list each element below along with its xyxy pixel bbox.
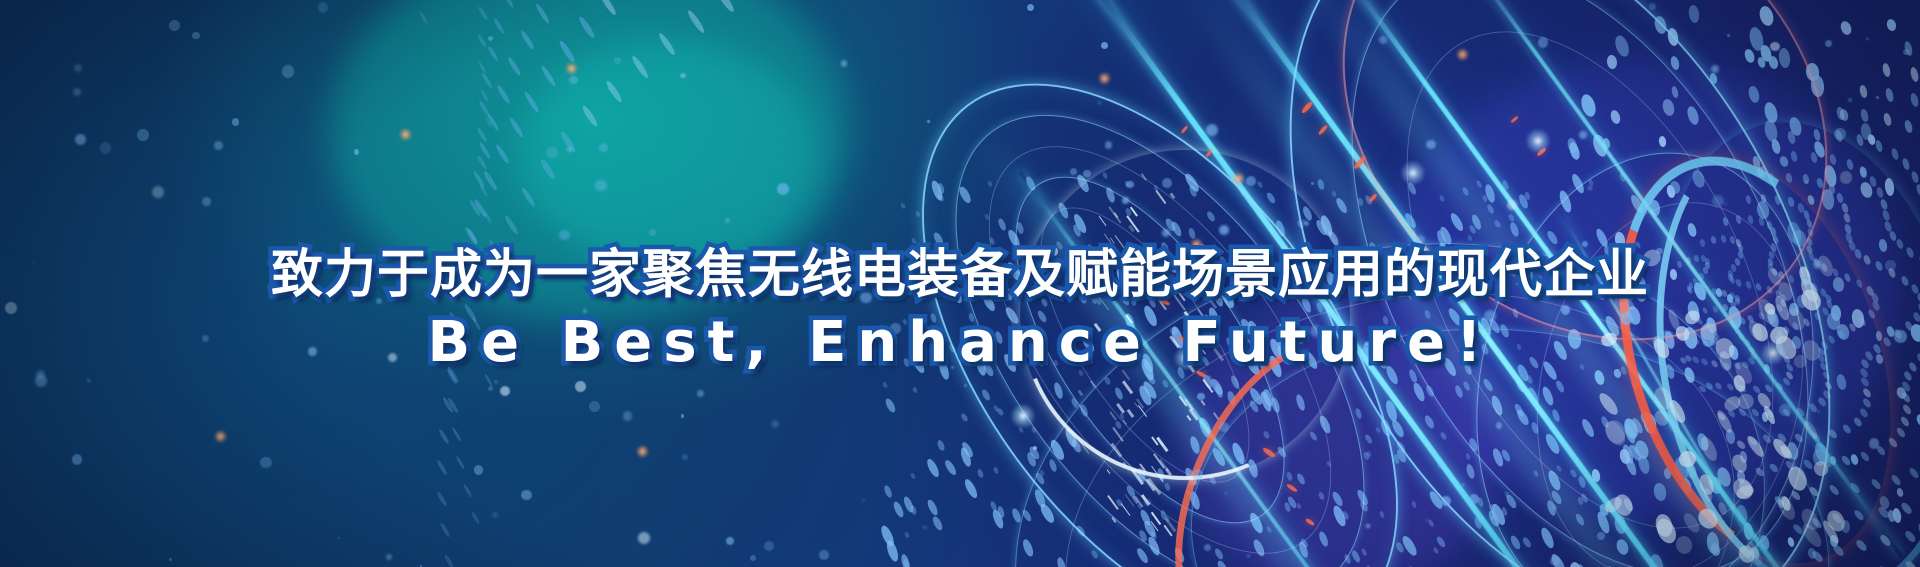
matrix-dash <box>1667 27 1680 46</box>
matrix-dash <box>1197 416 1214 440</box>
matrix-dash <box>1618 448 1631 465</box>
matrix-dash <box>1183 172 1202 194</box>
ring-tick <box>1164 517 1175 531</box>
bokeh-dot <box>1507 200 1517 210</box>
matrix-dash <box>1124 180 1130 187</box>
matrix-dash <box>1104 186 1116 204</box>
matrix-dash <box>1807 547 1817 560</box>
bokeh-dot <box>1304 221 1309 226</box>
matrix-dash <box>1246 458 1259 478</box>
matrix-dash <box>1661 98 1676 117</box>
ring-tick <box>1136 398 1144 408</box>
matrix-dash <box>1064 426 1080 448</box>
matrix-dash <box>1423 414 1436 429</box>
matrix-dash <box>1838 19 1852 36</box>
matrix-dash <box>1861 397 1872 409</box>
matrix-dash <box>1915 183 1920 196</box>
matrix-dash <box>1164 482 1171 491</box>
matrix-dash <box>1135 546 1150 564</box>
bokeh-dot <box>488 36 493 41</box>
matrix-dash <box>1462 380 1471 391</box>
ring-tick <box>1651 385 1674 412</box>
matrix-dash <box>1549 552 1568 567</box>
matrix-dash <box>1669 180 1682 195</box>
matrix-dash <box>1836 192 1844 204</box>
matrix-dash <box>1551 504 1557 511</box>
matrix-dash <box>1742 523 1753 541</box>
matrix-dash <box>1859 122 1872 140</box>
ring-tick <box>1735 391 1756 412</box>
matrix-dash <box>1892 508 1903 524</box>
matrix-dash <box>1669 55 1680 71</box>
matrix-dash <box>1449 212 1466 234</box>
bokeh-dot <box>1469 494 1479 504</box>
bokeh-dot <box>725 218 731 224</box>
ring-tick <box>1163 524 1173 536</box>
matrix-dash <box>1598 503 1609 517</box>
ring-tick <box>1185 399 1194 411</box>
ring-tick <box>1203 379 1214 393</box>
bokeh-dot <box>595 180 606 191</box>
matrix-dash <box>1188 227 1196 239</box>
matrix-dash <box>1910 170 1920 183</box>
matrix-dash <box>1738 383 1747 393</box>
ring-tick <box>1811 458 1831 478</box>
ring-tick <box>1213 412 1219 419</box>
matrix-dash <box>1411 382 1426 403</box>
matrix-dash <box>1141 380 1159 401</box>
matrix-dash <box>1900 415 1911 427</box>
bokeh-dot <box>137 129 149 141</box>
matrix-dash <box>990 508 1005 529</box>
matrix-dash <box>1595 510 1611 535</box>
ring-tick <box>1141 173 1147 181</box>
coral-spark <box>1205 149 1212 157</box>
matrix-dash <box>1270 397 1282 414</box>
matrix-dash <box>1878 494 1891 509</box>
matrix-dash <box>1663 467 1671 479</box>
lens-flare-point <box>636 445 649 458</box>
matrix-dash <box>1577 475 1586 488</box>
matrix-dash <box>1747 25 1765 52</box>
matrix-dash <box>1859 451 1871 463</box>
matrix-dash <box>1018 427 1024 434</box>
ring-tick <box>1653 512 1674 538</box>
matrix-dash <box>1214 383 1224 398</box>
bokeh-dot <box>100 142 111 153</box>
ring-tick <box>1109 207 1122 224</box>
ring-tick <box>1762 405 1777 426</box>
matrix-dash <box>1057 201 1071 220</box>
matrix-dash <box>1870 478 1882 491</box>
matrix-dash <box>959 446 973 468</box>
ring-tick <box>1681 510 1702 534</box>
matrix-dash <box>1735 215 1742 225</box>
matrix-dash <box>1173 546 1186 563</box>
bokeh-dot <box>1225 492 1227 494</box>
matrix-dash <box>1125 484 1137 499</box>
arc-dash <box>559 131 577 154</box>
ring-tick <box>1603 418 1629 447</box>
matrix-dash <box>1823 380 1833 391</box>
matrix-dash <box>1717 412 1727 422</box>
matrix-dash <box>1138 529 1148 542</box>
ring-tick <box>1717 501 1728 516</box>
ring-tick <box>1151 512 1161 525</box>
matrix-dash <box>1757 165 1768 178</box>
matrix-dash <box>1884 87 1894 102</box>
matrix-dash <box>1901 380 1912 392</box>
arc-dash <box>468 199 481 216</box>
matrix-dash <box>1619 173 1627 183</box>
matrix-dash <box>1359 500 1369 512</box>
bokeh-dot <box>1712 195 1724 207</box>
matrix-dash <box>1878 534 1892 548</box>
matrix-dash <box>1758 534 1770 550</box>
ring-tick <box>1729 452 1749 475</box>
matrix-dash <box>1821 188 1836 210</box>
matrix-dash <box>1751 384 1760 394</box>
arc-dash <box>482 210 492 223</box>
matrix-dash <box>996 407 1004 416</box>
bokeh-dot <box>771 420 779 428</box>
matrix-dash <box>1188 435 1201 455</box>
matrix-dash <box>1827 428 1838 440</box>
matrix-dash <box>1696 432 1711 453</box>
matrix-dash <box>1149 531 1157 541</box>
matrix-dash <box>1629 193 1646 215</box>
matrix-dash <box>1191 475 1197 482</box>
bokeh-dot <box>638 532 650 544</box>
matrix-dash <box>1315 218 1330 236</box>
matrix-dash <box>1021 508 1033 522</box>
arc-dash <box>464 226 479 246</box>
bokeh-dot <box>75 134 86 145</box>
arc-dash <box>477 34 487 48</box>
matrix-dash <box>1052 381 1064 400</box>
bokeh-dot <box>1817 410 1821 414</box>
matrix-dash <box>1769 462 1780 474</box>
matrix-dash <box>924 457 940 478</box>
matrix-dash <box>1515 408 1531 427</box>
ring-tick <box>1078 438 1090 454</box>
ring-tick <box>1601 418 1629 449</box>
matrix-dash <box>1216 559 1229 567</box>
matrix-dash <box>1327 229 1341 247</box>
matrix-dash <box>902 495 915 513</box>
ring-tick <box>1612 492 1636 519</box>
matrix-dash <box>984 214 990 221</box>
matrix-dash <box>1720 235 1727 244</box>
coral-spark <box>1300 101 1313 115</box>
matrix-dash <box>1252 538 1267 557</box>
arc-dash <box>451 426 462 441</box>
arc-dash <box>520 186 537 208</box>
ring-tick <box>1697 472 1716 496</box>
headline-block: 致力于成为一家聚焦无线电装备及赋能场景应用的现代企业 Be Best, Enha… <box>0 246 1920 376</box>
headline-english: Be Best, Enhance Future! <box>0 310 1920 376</box>
matrix-dash <box>915 210 921 217</box>
matrix-dash <box>1509 534 1522 550</box>
matrix-dash <box>1331 490 1345 507</box>
matrix-dash <box>1258 390 1273 412</box>
matrix-dash <box>1688 4 1701 23</box>
arc-dash <box>462 483 472 497</box>
matrix-dash <box>1859 167 1868 179</box>
matrix-dash <box>1318 415 1333 435</box>
ring-tick <box>1755 390 1773 409</box>
matrix-dash <box>1859 408 1870 420</box>
bokeh-dot <box>1219 225 1229 235</box>
matrix-dash <box>1546 500 1558 518</box>
matrix-dash <box>1875 186 1884 198</box>
matrix-dash <box>902 558 910 567</box>
arc-dash <box>472 198 487 218</box>
matrix-dash <box>1759 44 1773 63</box>
lens-flare-point <box>399 128 412 141</box>
matrix-dash <box>884 397 897 414</box>
matrix-dash <box>1427 519 1435 528</box>
matrix-dash <box>1075 524 1087 538</box>
matrix-dash <box>1706 473 1717 488</box>
matrix-dash <box>1828 184 1836 196</box>
bokeh-dot <box>1711 65 1719 73</box>
matrix-dash <box>1796 406 1806 417</box>
matrix-dash <box>1071 438 1083 454</box>
matrix-dash <box>1806 194 1815 205</box>
bokeh-dot <box>608 88 611 91</box>
matrix-dash <box>1666 184 1676 199</box>
bokeh-dot <box>862 499 865 502</box>
matrix-dash <box>1852 416 1863 428</box>
arc-dash <box>478 6 489 20</box>
matrix-dash <box>1300 537 1310 549</box>
matrix-dash <box>1439 194 1446 202</box>
matrix-dash <box>1774 194 1782 205</box>
arc-dash <box>443 554 454 567</box>
matrix-dash <box>1786 441 1799 461</box>
matrix-dash <box>976 468 984 478</box>
ring-tick <box>1159 458 1169 470</box>
bokeh-dot <box>74 64 82 72</box>
bokeh-dot <box>1101 42 1108 49</box>
matrix-dash <box>1836 373 1848 391</box>
matrix-dash <box>1490 394 1505 416</box>
matrix-dash <box>1143 520 1158 539</box>
ring-tick <box>1156 437 1163 446</box>
ring-tick <box>1077 389 1083 395</box>
matrix-dash <box>1622 423 1637 444</box>
ring-tick <box>1602 495 1624 516</box>
matrix-dash <box>1185 488 1192 496</box>
bokeh-dot <box>1597 532 1605 540</box>
bokeh-dot <box>73 88 81 96</box>
arc-dash <box>558 39 576 63</box>
matrix-dash <box>1622 497 1634 512</box>
matrix-dash <box>1634 438 1652 460</box>
bokeh-dot <box>1834 128 1845 139</box>
matrix-dash <box>1125 207 1132 216</box>
matrix-dash <box>1488 503 1496 513</box>
matrix-dash <box>1896 487 1905 497</box>
matrix-dash <box>1153 184 1159 191</box>
matrix-dash <box>1771 234 1779 244</box>
matrix-dash <box>1363 433 1372 444</box>
matrix-dash <box>1615 537 1631 556</box>
bokeh-dot <box>386 554 393 561</box>
matrix-dash <box>1398 406 1408 417</box>
matrix-dash <box>1021 538 1034 557</box>
bokeh-dot <box>1866 38 1868 40</box>
matrix-dash <box>1024 176 1036 192</box>
matrix-dash <box>997 217 1007 231</box>
matrix-dash <box>909 504 917 515</box>
bokeh-dot <box>923 526 927 530</box>
ring-tick <box>1775 493 1798 522</box>
matrix-dash <box>1900 501 1913 515</box>
bokeh-dot <box>927 120 930 123</box>
matrix-dash <box>1137 503 1143 510</box>
matrix-dash <box>1756 200 1771 220</box>
matrix-dash <box>930 179 945 201</box>
matrix-dash <box>1507 214 1515 223</box>
matrix-dash <box>1600 415 1610 428</box>
matrix-dash <box>1859 109 1868 123</box>
matrix-dash <box>1787 130 1797 144</box>
matrix-dash <box>1575 564 1588 567</box>
matrix-dash <box>1284 501 1292 512</box>
matrix-dash <box>1767 56 1779 71</box>
matrix-dash <box>1811 550 1825 564</box>
matrix-dash <box>1317 178 1326 190</box>
matrix-dash <box>1767 172 1775 183</box>
matrix-dash <box>1747 214 1754 224</box>
matrix-dash <box>1296 503 1302 510</box>
matrix-dash <box>1637 453 1652 474</box>
matrix-dash <box>1810 74 1825 97</box>
matrix-dash <box>1743 48 1756 64</box>
bokeh-dot <box>492 512 498 518</box>
lens-flare-point <box>565 62 578 75</box>
matrix-dash <box>1601 137 1610 149</box>
matrix-dash <box>1607 54 1618 69</box>
matrix-dash <box>1341 510 1349 520</box>
matrix-dash <box>1161 379 1169 388</box>
matrix-dash <box>1362 451 1370 460</box>
bokeh-dot <box>764 541 774 551</box>
bokeh-dot <box>1416 235 1425 244</box>
coral-spark <box>1368 193 1378 203</box>
matrix-dash <box>1811 431 1822 442</box>
matrix-dash <box>1850 453 1860 466</box>
ring-tick <box>1714 408 1734 434</box>
matrix-dash <box>1407 181 1418 195</box>
matrix-dash <box>1056 556 1068 567</box>
matrix-dash <box>1591 469 1602 483</box>
matrix-dash <box>1156 468 1166 482</box>
matrix-dash <box>1792 522 1805 535</box>
matrix-dash <box>1781 408 1791 419</box>
hero-banner: 致力于成为一家聚焦无线电装备及赋能场景应用的现代企业 Be Best, Enha… <box>0 0 1920 567</box>
matrix-dash <box>1137 384 1153 407</box>
matrix-dash <box>1490 502 1508 526</box>
bokeh-dot <box>682 454 688 460</box>
bokeh-dot <box>1804 180 1808 184</box>
matrix-dash <box>1033 488 1047 508</box>
matrix-dash <box>990 501 998 512</box>
bokeh-dot <box>777 183 789 195</box>
matrix-dash <box>1136 467 1147 483</box>
bokeh-dot <box>494 380 498 384</box>
ring-tick <box>1106 469 1110 474</box>
matrix-dash <box>1509 221 1520 237</box>
bokeh-dot <box>202 197 211 206</box>
matrix-dash <box>1226 391 1236 406</box>
matrix-dash <box>1206 210 1217 222</box>
matrix-dash <box>912 386 918 393</box>
matrix-dash <box>1835 130 1844 143</box>
arc-dash <box>472 170 485 188</box>
matrix-dash <box>1691 169 1707 189</box>
matrix-dash <box>1160 509 1168 520</box>
matrix-dash <box>1301 218 1306 225</box>
matrix-dash <box>1853 509 1866 522</box>
matrix-dash <box>1612 34 1631 58</box>
matrix-dash <box>1793 432 1804 443</box>
ring-tick <box>1694 504 1721 532</box>
matrix-dash <box>1714 381 1723 390</box>
bokeh-dot <box>318 2 328 12</box>
ring-tick <box>1155 190 1166 204</box>
matrix-dash <box>1237 455 1243 463</box>
matrix-dash <box>996 506 1005 519</box>
bokeh-dot <box>1550 556 1560 566</box>
matrix-dash <box>1777 498 1786 508</box>
matrix-dash <box>1784 460 1795 472</box>
matrix-dash <box>1379 511 1385 519</box>
matrix-dash <box>1641 412 1657 435</box>
matrix-dash <box>1757 56 1767 68</box>
matrix-dash <box>1841 202 1850 213</box>
ring-tick <box>1139 464 1147 473</box>
matrix-dash <box>1843 213 1852 224</box>
matrix-dash <box>1801 174 1809 185</box>
ring-tick <box>1109 412 1116 421</box>
matrix-dash <box>1530 422 1539 435</box>
ring-tick <box>1744 540 1764 567</box>
ring-tick <box>1122 381 1133 394</box>
bokeh-dot <box>1903 49 1909 55</box>
bokeh-dot <box>649 229 656 236</box>
matrix-dash <box>1188 184 1198 197</box>
bokeh-dot <box>1441 496 1451 506</box>
matrix-dash <box>1286 472 1293 482</box>
matrix-dash <box>1113 387 1124 402</box>
matrix-dash <box>1786 536 1795 547</box>
matrix-dash <box>1483 183 1496 203</box>
bokeh-dot <box>1311 182 1314 185</box>
matrix-dash <box>1778 155 1789 168</box>
matrix-dash <box>1465 453 1471 461</box>
matrix-dash <box>909 473 916 480</box>
matrix-dash <box>1164 218 1177 233</box>
matrix-dash <box>1902 158 1912 171</box>
matrix-dash <box>1115 499 1123 508</box>
matrix-dash <box>1622 416 1641 440</box>
matrix-dash <box>1249 399 1261 413</box>
matrix-dash <box>899 203 905 210</box>
matrix-dash <box>1866 133 1876 145</box>
